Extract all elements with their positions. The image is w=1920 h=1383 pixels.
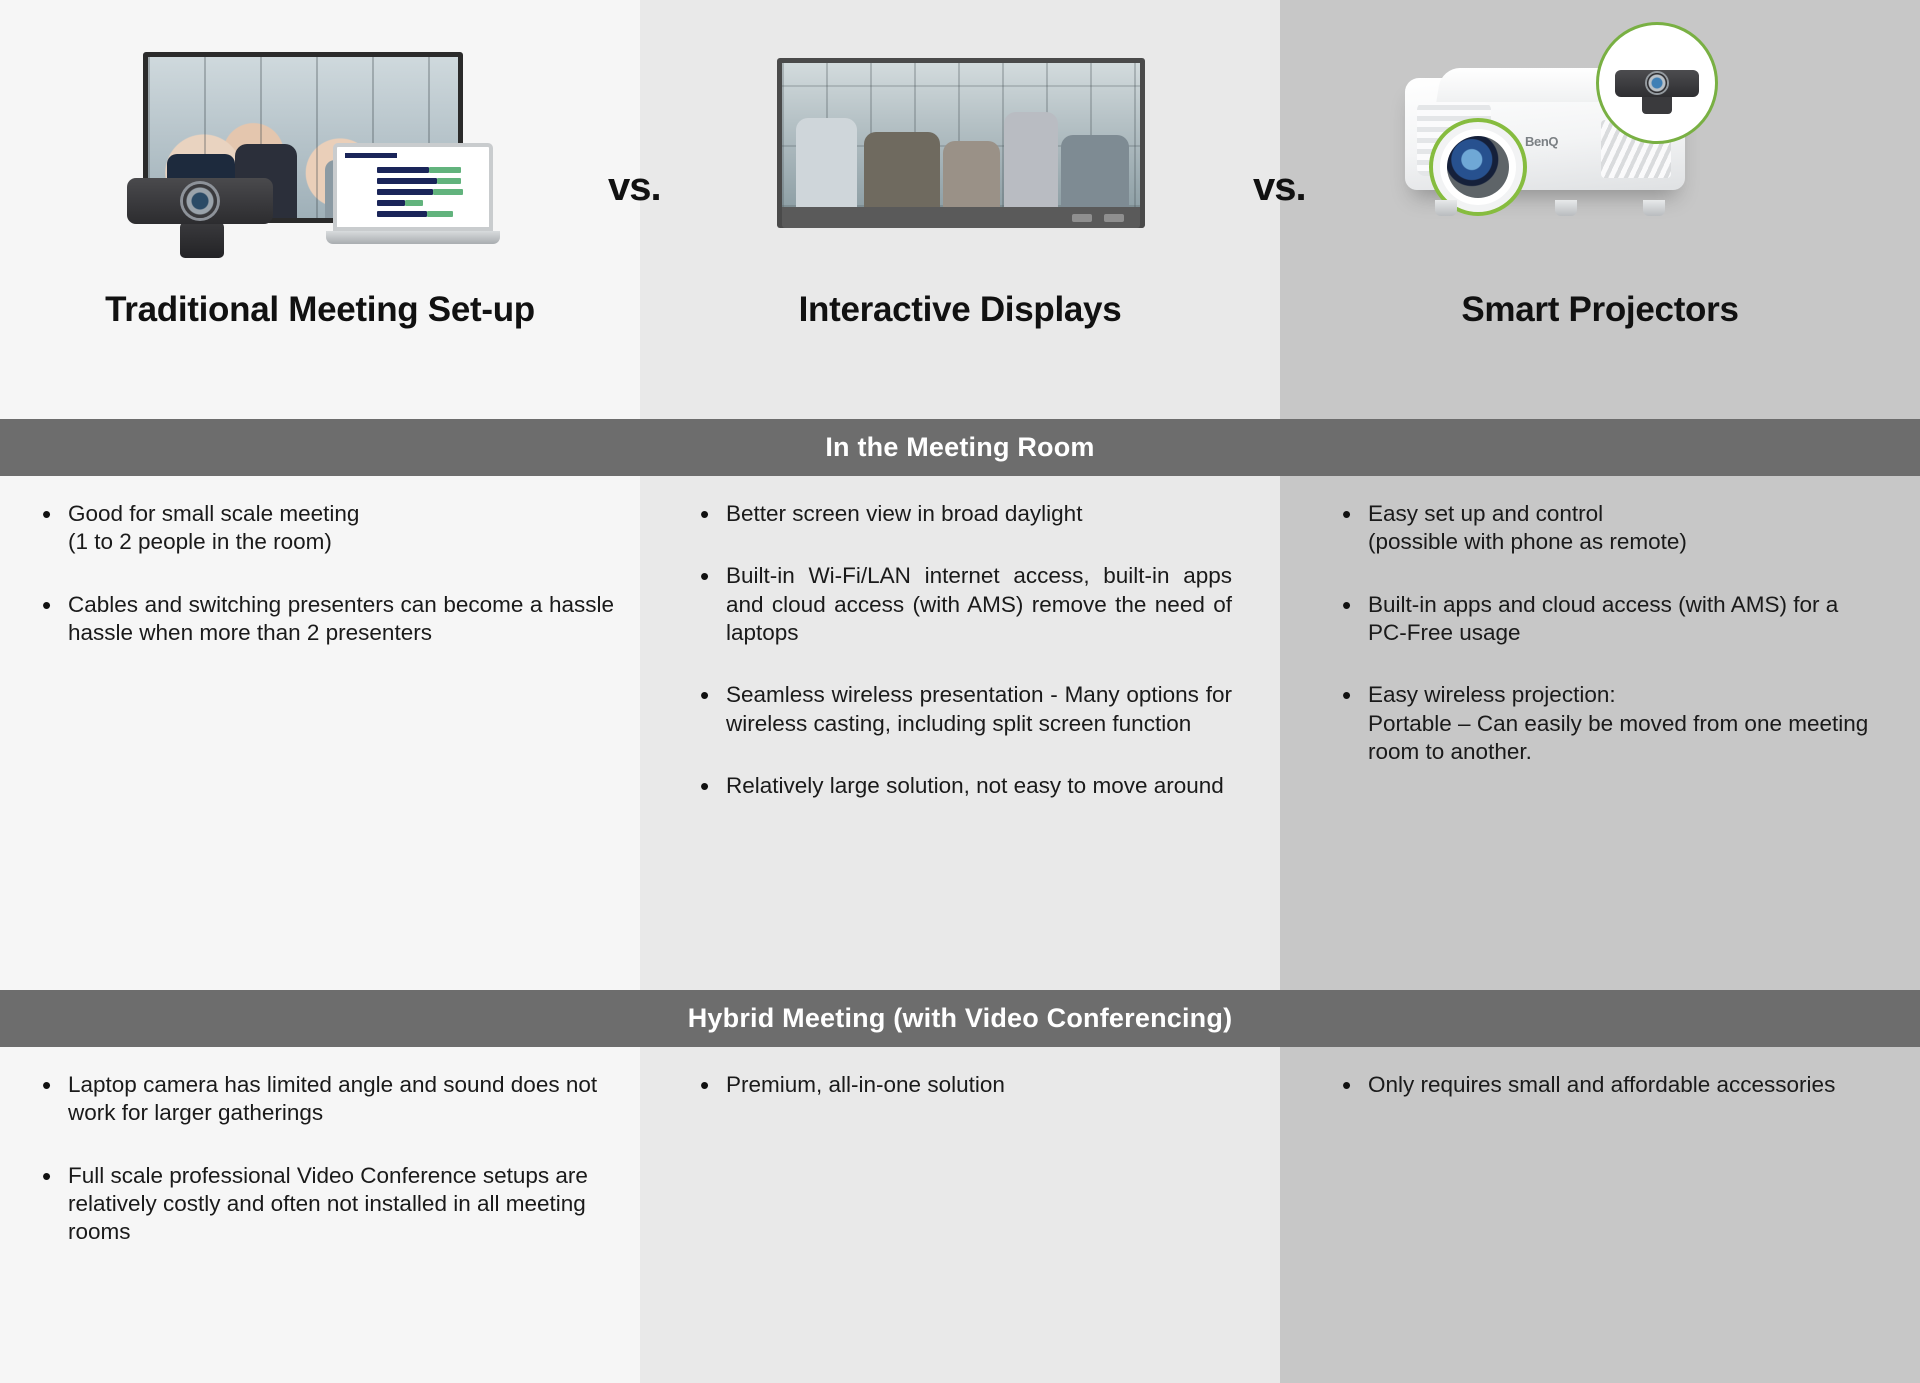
bullet-list: Easy set up and control (possible with p… [1340, 500, 1880, 766]
vs-separator-first: vs. [608, 165, 661, 210]
section-band-label: Hybrid Meeting (with Video Conferencing) [688, 1003, 1233, 1034]
meeting-room-projectors-cell: Easy set up and control (possible with p… [1280, 476, 1920, 990]
hybrid-traditional-cell: Laptop camera has limited angle and soun… [0, 1047, 640, 1383]
section-band-hybrid-meeting: Hybrid Meeting (with Video Conferencing) [0, 990, 1920, 1047]
hybrid-meeting-row: Laptop camera has limited angle and soun… [0, 1047, 1920, 1383]
list-item: Laptop camera has limited angle and soun… [40, 1071, 614, 1128]
list-item: Better screen view in broad daylight [698, 500, 1232, 528]
hero-column-projectors: BenQ Smar [1280, 0, 1920, 419]
list-item: Full scale professional Video Conference… [40, 1162, 614, 1247]
webcam-icon [127, 178, 273, 224]
list-item: Built-in apps and cloud access (with AMS… [1340, 591, 1880, 648]
meeting-room-traditional-cell: Good for small scale meeting (1 to 2 peo… [0, 476, 640, 990]
list-item: Good for small scale meeting (1 to 2 peo… [40, 500, 614, 557]
hero-row: Traditional Meeting Set-up [0, 0, 1920, 419]
list-item: Seamless wireless presentation - Many op… [698, 681, 1232, 738]
hero-column-traditional: Traditional Meeting Set-up [0, 0, 640, 419]
meeting-room-interactive-cell: Better screen view in broad daylight Bui… [640, 476, 1280, 990]
traditional-artwork [0, 0, 640, 290]
list-item: Premium, all-in-one solution [698, 1071, 1232, 1099]
list-item: Cables and switching presenters can beco… [40, 591, 614, 648]
section-band-label: In the Meeting Room [825, 432, 1094, 463]
laptop-icon [333, 143, 493, 244]
list-item: Built-in Wi-Fi/LAN internet access, buil… [698, 562, 1232, 647]
meeting-room-row: Good for small scale meeting (1 to 2 peo… [0, 476, 1920, 990]
interactive-artwork [640, 0, 1280, 290]
list-item: Relatively large solution, not easy to m… [698, 772, 1232, 800]
section-band-meeting-room: In the Meeting Room [0, 419, 1920, 476]
webcam-inset-icon [1596, 22, 1718, 144]
bullet-list: Good for small scale meeting (1 to 2 peo… [40, 500, 614, 647]
bullet-list: Only requires small and affordable acces… [1340, 1071, 1880, 1099]
vs-separator-second: vs. [1253, 165, 1306, 210]
bullet-list: Laptop camera has limited angle and soun… [40, 1071, 614, 1247]
list-item: Easy wireless projection: Portable – Can… [1340, 681, 1880, 766]
column-title-projectors: Smart Projectors [1461, 290, 1738, 330]
column-title-traditional: Traditional Meeting Set-up [105, 290, 535, 330]
webcam-stand-icon [180, 222, 224, 258]
benq-logo: BenQ [1525, 134, 1558, 149]
hybrid-interactive-cell: Premium, all-in-one solution [640, 1047, 1280, 1383]
hybrid-projectors-cell: Only requires small and affordable acces… [1280, 1047, 1920, 1383]
bullet-list: Premium, all-in-one solution [698, 1071, 1232, 1099]
hero-column-interactive: Interactive Displays [640, 0, 1280, 419]
list-item: Easy set up and control (possible with p… [1340, 500, 1880, 557]
column-title-interactive: Interactive Displays [799, 290, 1122, 330]
bullet-list: Better screen view in broad daylight Bui… [698, 500, 1232, 800]
list-item: Only requires small and affordable acces… [1340, 1071, 1880, 1099]
projector-artwork: BenQ [1280, 0, 1920, 290]
comparison-infographic: Traditional Meeting Set-up [0, 0, 1920, 1383]
interactive-display-icon [777, 58, 1145, 228]
